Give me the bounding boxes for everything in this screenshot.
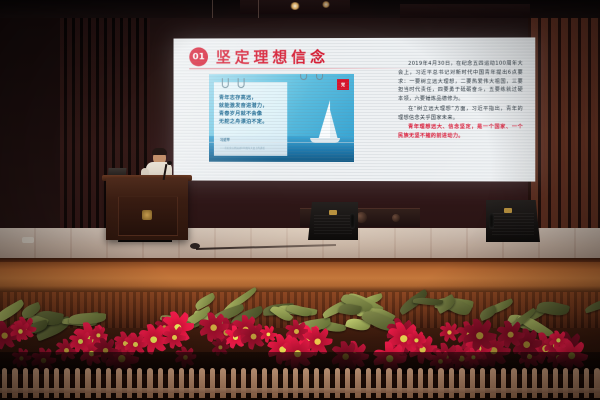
fence-picket — [490, 368, 495, 398]
fence-picket — [314, 368, 319, 398]
quote-line: 就能激发奋进潜力， — [219, 102, 287, 110]
binder-rings-icon — [222, 78, 245, 88]
fence-picket — [272, 368, 277, 398]
podium-emblem — [142, 210, 152, 220]
fence-picket — [324, 368, 329, 398]
slide-body-text: 2019年4月30日，在纪念五四运动100周年大会上，习近平总书记对新时代中国青… — [398, 60, 523, 142]
fence-picket — [2, 368, 7, 398]
quote-panel: 青年志存高远， 就能激发奋进潜力， 青春岁月就不会像 无舵之舟漂泊不定。 习近平… — [214, 82, 287, 156]
poinsettia-bloom — [8, 321, 32, 341]
quote-attribution: 习近平 — [220, 137, 230, 142]
fence-picket — [179, 368, 184, 398]
stage-monitor-speaker — [308, 202, 358, 240]
ceiling-beam — [400, 4, 530, 18]
poinsettia-bloom — [405, 331, 427, 350]
fence-picket — [12, 368, 17, 398]
fence-picket — [116, 368, 121, 398]
fence-picket — [335, 368, 340, 398]
fence-rail — [0, 388, 600, 393]
presenter-hair — [152, 148, 167, 155]
ceiling-lamp — [290, 2, 300, 10]
fence-picket — [106, 368, 111, 398]
quote-image-card: 青年志存高远， 就能激发奋进潜力， 青春岁月就不会像 无舵之舟漂泊不定。 习近平… — [209, 74, 354, 162]
fence-picket — [54, 368, 59, 398]
fence-picket — [189, 368, 194, 398]
quote-line: 青春岁月就不会像 — [219, 110, 287, 118]
fence-picket — [428, 368, 433, 398]
title-divider — [189, 68, 424, 69]
fence-picket — [386, 368, 391, 398]
quote-subnote: ——在纪念五四运动100周年大会上的讲话 — [220, 147, 283, 151]
fence-picket — [563, 368, 568, 398]
slide-paragraph: 2019年4月30日，在纪念五四运动100周年大会上，习近平总书记对新时代中国青… — [398, 60, 523, 104]
led-presentation-screen: 01 坚定理想信念 青年志存高远， 就能激发奋进潜力， 青春岁月就不会像 无舵之 — [174, 37, 536, 181]
fence-picket — [584, 368, 589, 398]
fence-picket — [511, 368, 516, 398]
quote-line: 青年志存高远， — [219, 94, 287, 102]
fence-picket — [96, 368, 101, 398]
fence-picket — [158, 368, 163, 398]
fence-picket — [241, 368, 246, 398]
fence-picket — [345, 368, 350, 398]
fence-picket — [594, 368, 599, 398]
fence-picket — [44, 368, 49, 398]
fence-picket — [231, 368, 236, 398]
fence-picket — [418, 368, 423, 398]
wall-panel — [0, 18, 60, 230]
fence-picket — [33, 368, 38, 398]
fence-picket — [168, 368, 173, 398]
poinsettia-bloom — [67, 329, 93, 351]
ceiling-lamp — [322, 1, 330, 8]
slide-title-row: 01 坚定理想信念 — [189, 46, 329, 67]
stage-monitor-speaker — [486, 200, 540, 242]
party-logo-icon: 党 — [337, 79, 349, 90]
poinsettia-bloom — [258, 325, 278, 342]
floor-object — [22, 237, 34, 243]
poinsettia-bloom — [460, 319, 498, 351]
speaker-grille — [314, 215, 352, 234]
fence-picket — [397, 368, 402, 398]
slide-highlight-text: 青年理想远大、信念坚定，是一个国家、一个民族无坚不摧的前进动力。 — [398, 123, 523, 141]
fence-picket — [480, 368, 485, 398]
fence-picket — [262, 368, 267, 398]
section-number-badge: 01 — [189, 47, 208, 66]
speaker-handle — [350, 213, 355, 229]
fence-picket — [210, 368, 215, 398]
poinsettia-bloom — [547, 331, 569, 350]
fence-picket — [470, 368, 475, 398]
fence-picket — [501, 368, 506, 398]
fence-picket — [449, 368, 454, 398]
fence-picket — [293, 368, 298, 398]
fence-picket — [251, 368, 256, 398]
fence-picket — [137, 368, 142, 398]
fence-picket — [542, 368, 547, 398]
poinsettia-bloom — [494, 320, 526, 347]
fence-picket — [147, 368, 152, 398]
wall-socket — [392, 214, 400, 222]
fence-picket — [532, 368, 537, 398]
microphone-head-icon — [167, 161, 172, 165]
fence-picket — [23, 368, 28, 398]
speaker-handle — [489, 213, 494, 229]
quote-lines: 青年志存高远， 就能激发奋进潜力， 青春岁月就不会像 无舵之舟漂泊不定。 — [214, 82, 287, 126]
fence-picket — [355, 368, 360, 398]
fence-picket — [366, 368, 371, 398]
fence-picket — [376, 368, 381, 398]
fence-picket — [75, 368, 80, 398]
binder-rings-icon — [300, 74, 323, 80]
speaker-grille — [492, 213, 534, 236]
fence-picket — [127, 368, 132, 398]
fence-picket — [407, 368, 412, 398]
stage-curtain-right — [528, 18, 600, 230]
fence-picket — [220, 368, 225, 398]
fence-picket — [573, 368, 578, 398]
fence-picket — [553, 368, 558, 398]
fence-picket — [85, 368, 90, 398]
auditorium-photo: 01 坚定理想信念 青年志存高远， 就能激发奋进潜力， 青春岁月就不会像 无舵之 — [0, 0, 600, 400]
slide-title: 坚定理想信念 — [216, 46, 329, 67]
fence-picket — [199, 368, 204, 398]
slide-paragraph: 在“树立远大理想”方面，习近平指出，青年的理想信念关乎国家未来。 — [398, 105, 523, 123]
poinsettia-bloom — [161, 326, 187, 348]
quote-line: 无舵之舟漂泊不定。 — [219, 118, 287, 126]
fence-picket — [522, 368, 527, 398]
fence-picket — [438, 368, 443, 398]
fence-picket — [459, 368, 464, 398]
picket-fence — [0, 368, 600, 400]
fence-picket — [283, 368, 288, 398]
fence-picket — [303, 368, 308, 398]
fence-picket — [64, 368, 69, 398]
